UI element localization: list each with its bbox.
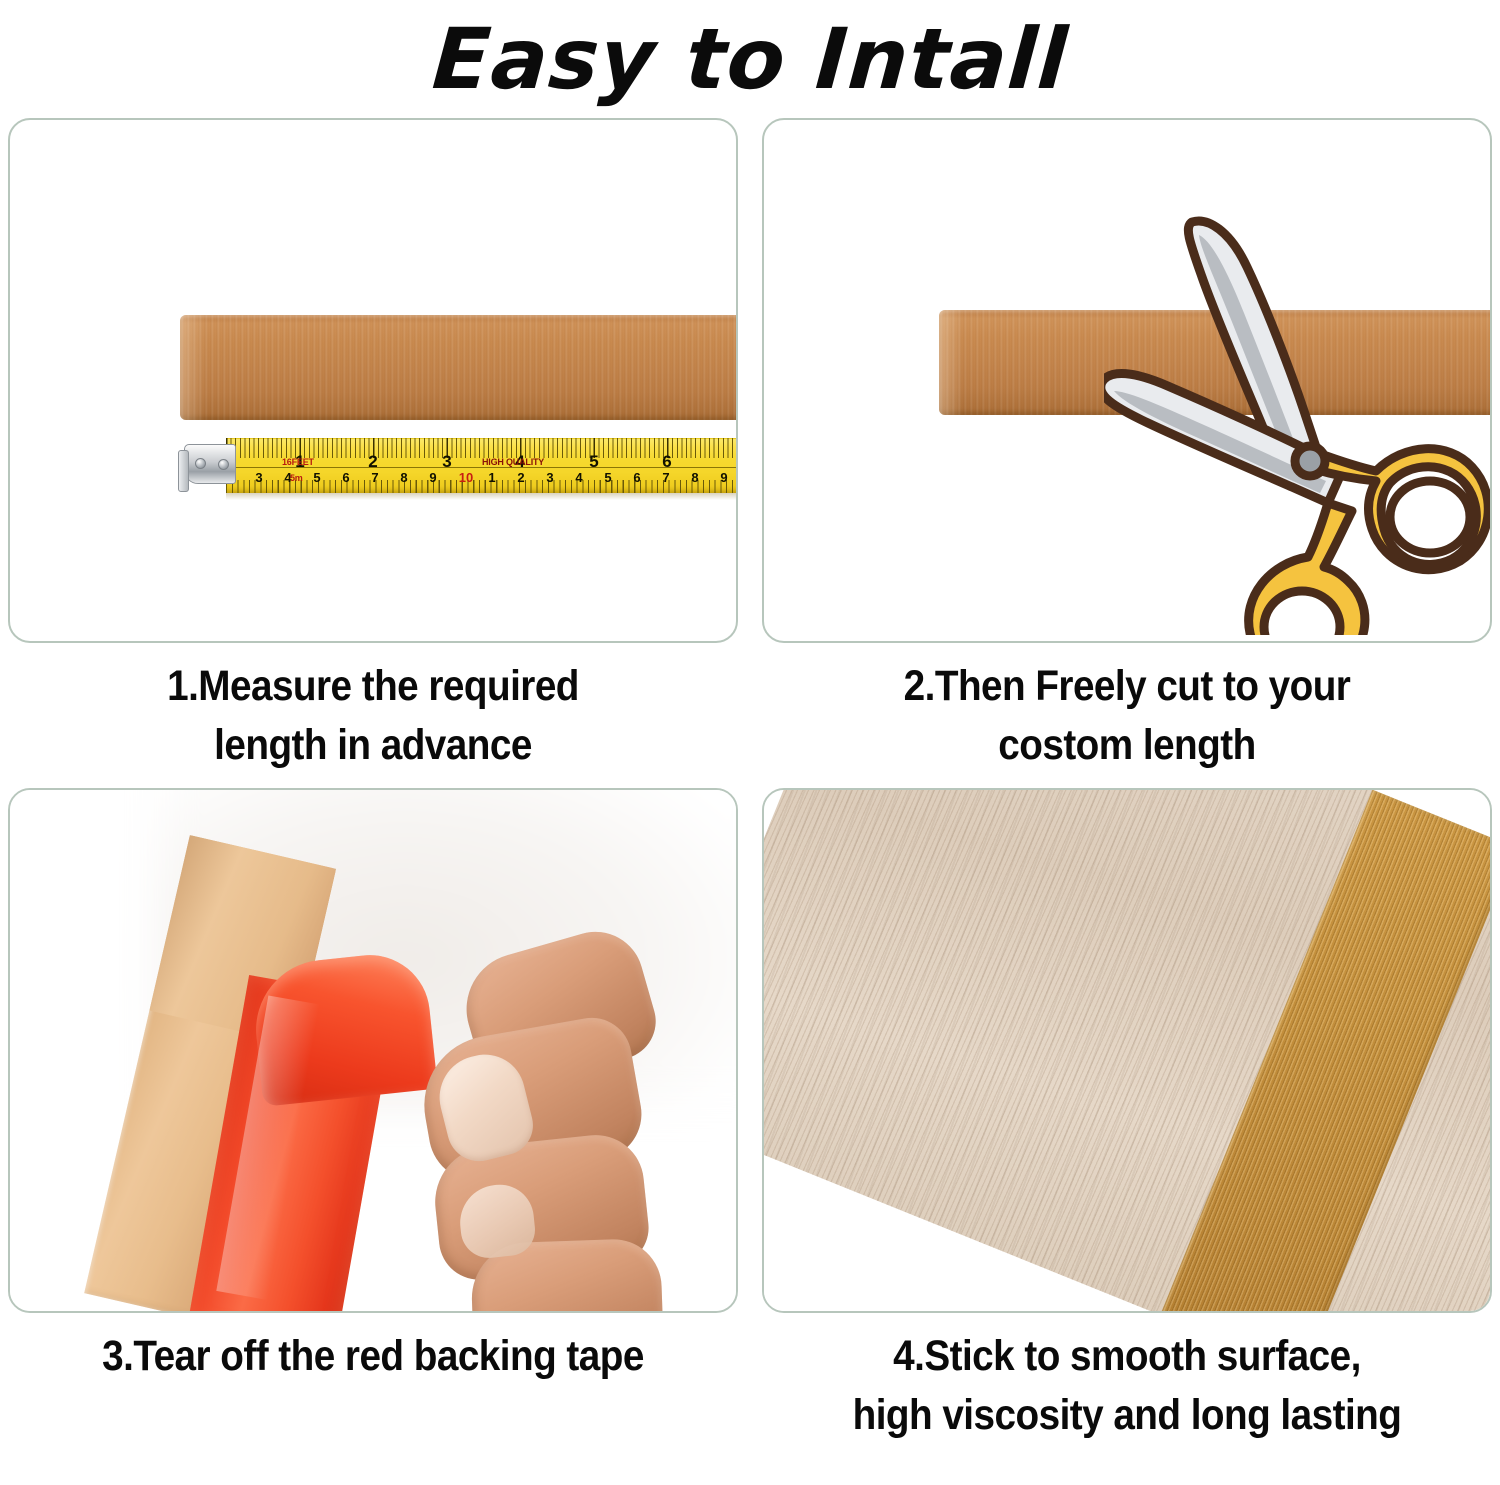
caption-line: length in advance <box>45 716 702 775</box>
step-2-caption: 2.Then Freely cut to your costom length <box>799 657 1456 776</box>
step-1: 1 2 3 4 5 6 7 2 3 4 5 6 7 8 9 1 <box>8 118 738 776</box>
peel-backing-tape-photo <box>10 790 736 1311</box>
hook-rivet <box>195 458 206 469</box>
cm-label-highlight: 10 <box>459 471 473 484</box>
cm-label: 1 <box>488 471 495 484</box>
wood-trim-strip-illustration <box>180 315 738 420</box>
cm-label: 7 <box>371 471 378 484</box>
scissors-icon <box>1104 215 1492 635</box>
tape-brand-meter: 5m <box>290 473 303 483</box>
cm-label: 6 <box>342 471 349 484</box>
step-3: 3.Tear off the red backing tape <box>8 788 738 1386</box>
step-3-panel <box>8 788 738 1313</box>
cm-label: 7 <box>662 471 669 484</box>
caption-line: 2.Then Freely cut to your <box>799 657 1456 716</box>
step-4-panel <box>762 788 1492 1313</box>
inch-label: 5 <box>589 453 598 470</box>
hook-lip <box>178 450 189 492</box>
step-1-panel: 1 2 3 4 5 6 7 2 3 4 5 6 7 8 9 1 <box>8 118 738 643</box>
page-title: Easy to Intall <box>430 17 1071 101</box>
inch-label: 7 <box>736 453 738 470</box>
caption-line: high viscosity and long lasting <box>799 1386 1456 1445</box>
title-bar: Easy to Intall <box>0 0 1500 118</box>
cm-label: 2 <box>517 471 524 484</box>
step-4: 4.Stick to smooth surface, high viscosit… <box>762 788 1492 1446</box>
tape-brand-feet: 16FEET <box>282 457 314 467</box>
cm-label: 9 <box>429 471 436 484</box>
cm-label: 9 <box>720 471 727 484</box>
tape-brand-quality: HIGH QUALITY <box>482 457 544 467</box>
caption-line: 4.Stick to smooth surface, <box>799 1327 1456 1386</box>
scissors-svg <box>1104 215 1492 635</box>
tape-measure-illustration: 1 2 3 4 5 6 7 2 3 4 5 6 7 8 9 1 <box>178 438 738 493</box>
cm-label: 8 <box>400 471 407 484</box>
inch-label: 6 <box>662 453 671 470</box>
cm-label: 3 <box>546 471 553 484</box>
inch-label: 2 <box>368 453 377 470</box>
inch-label: 3 <box>442 453 451 470</box>
step-2: 2.Then Freely cut to your costom length <box>762 118 1492 776</box>
step-3-caption: 3.Tear off the red backing tape <box>45 1327 702 1386</box>
cm-label: 5 <box>313 471 320 484</box>
cm-label: 6 <box>633 471 640 484</box>
tape-shadow <box>226 493 738 500</box>
caption-line: costom length <box>799 716 1456 775</box>
steps-grid: 1 2 3 4 5 6 7 2 3 4 5 6 7 8 9 1 <box>0 118 1500 1485</box>
cm-label: 4 <box>575 471 582 484</box>
hand-illustration <box>414 935 736 1311</box>
cm-label: 3 <box>255 471 262 484</box>
installed-trim-photo <box>764 790 1490 1311</box>
step-1-caption: 1.Measure the required length in advance <box>45 657 702 776</box>
step-2-panel <box>762 118 1492 643</box>
cm-label: 8 <box>691 471 698 484</box>
caption-line: 1.Measure the required <box>45 657 702 716</box>
cm-label: 5 <box>604 471 611 484</box>
caption-line: 3.Tear off the red backing tape <box>45 1327 702 1386</box>
tape-measure-hook-icon <box>178 442 236 488</box>
hook-rivet <box>218 459 229 470</box>
step-4-caption: 4.Stick to smooth surface, high viscosit… <box>799 1327 1456 1446</box>
